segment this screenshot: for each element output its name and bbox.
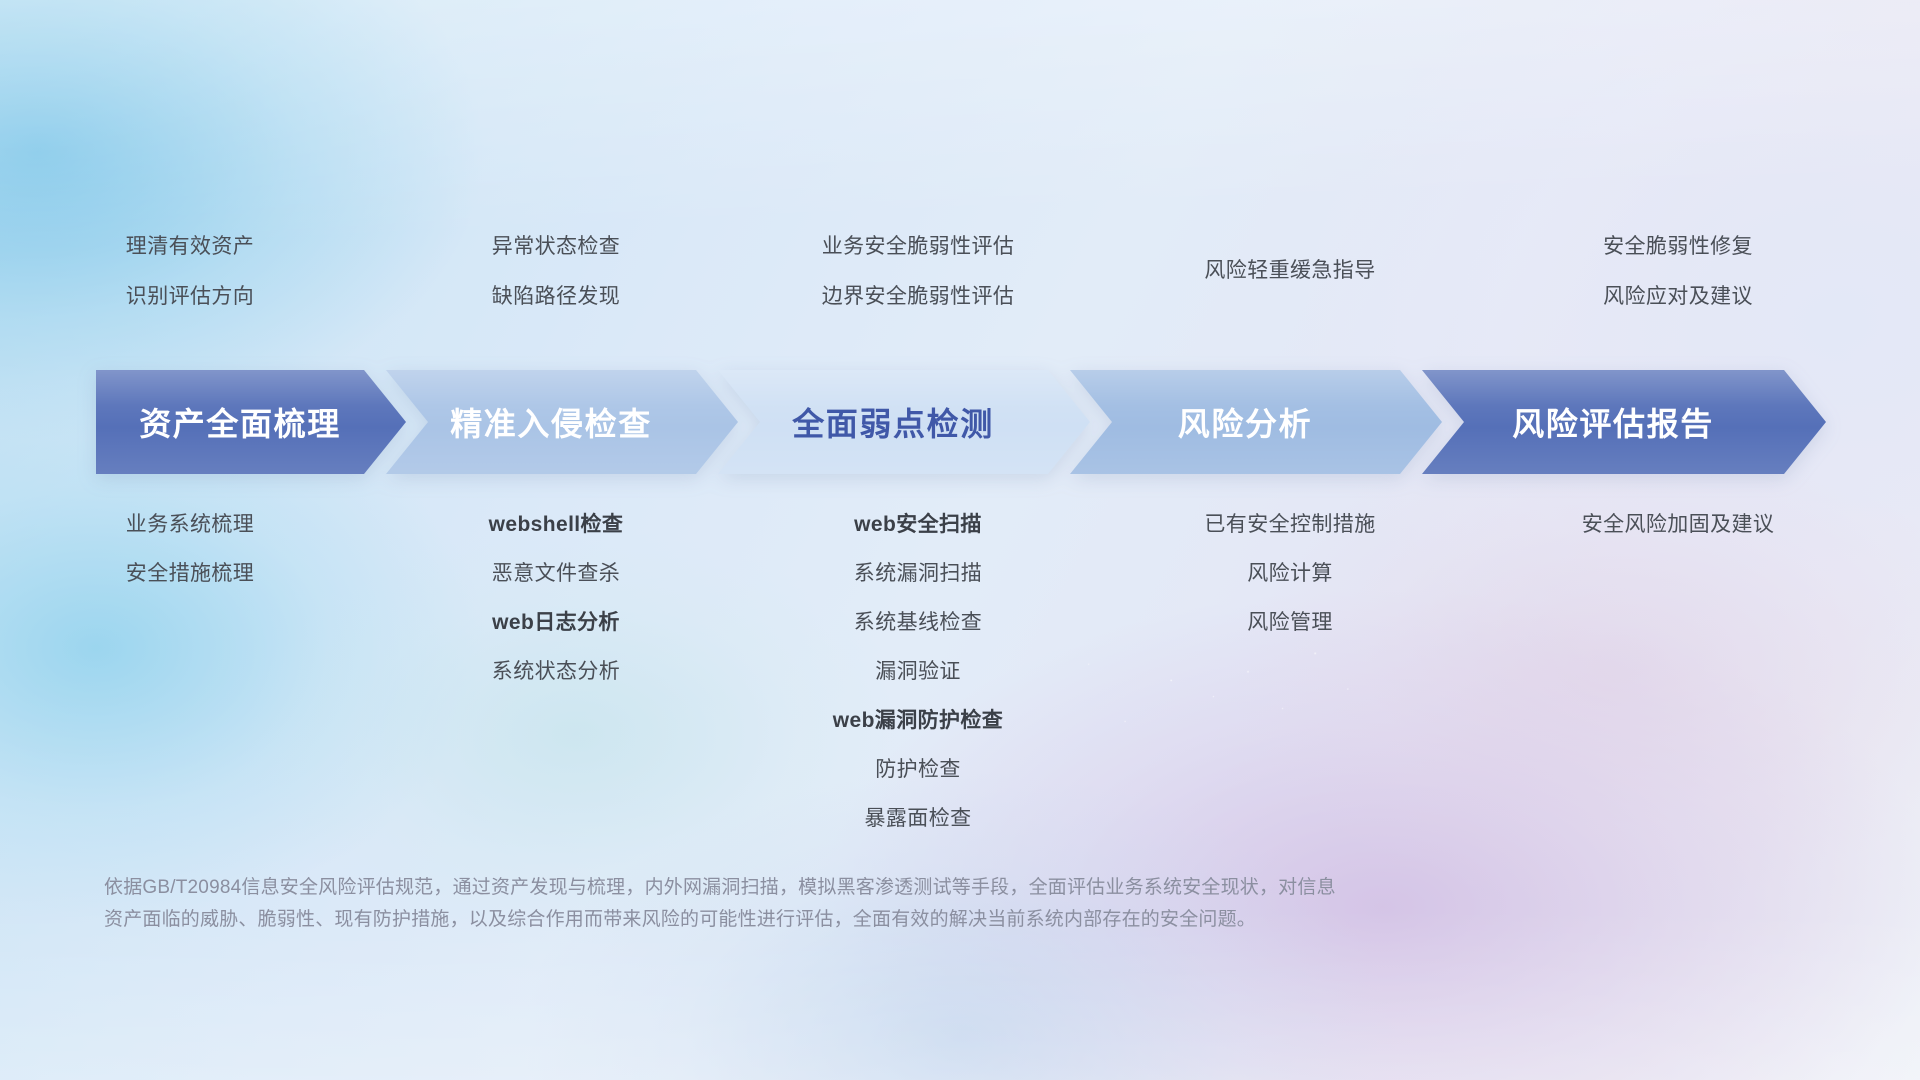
stage-3-outcomes: 业务安全脆弱性评估 边界安全脆弱性评估 [732, 222, 1104, 322]
list-item: 风险轻重缓急指导 [1204, 246, 1375, 296]
list-item: 安全措施梳理 [126, 549, 254, 598]
list-item: 识别评估方向 [126, 272, 254, 322]
stage-2-activities: webshell检查恶意文件查杀web日志分析系统状态分析 [380, 500, 732, 843]
chevron-stage-2[interactable]: 精准入侵检查 [386, 370, 738, 474]
list-item: 系统漏洞扫描 [854, 549, 982, 598]
stage-4-outcomes: 风险轻重缓急指导 [1104, 222, 1476, 322]
process-chevron-band: 资产全面梳理 精准入侵检查 全面弱点检测 风险分析 风险评估报告 [96, 370, 1848, 474]
list-item: 理清有效资产 [126, 222, 254, 272]
list-item: 系统状态分析 [492, 647, 620, 696]
list-item: 风险计算 [1247, 549, 1333, 598]
list-item: 系统基线检查 [854, 598, 982, 647]
chevron-stage-3[interactable]: 全面弱点检测 [718, 370, 1090, 474]
list-item: 已有安全控制措施 [1204, 500, 1375, 549]
stage-1-outcomes: 理清有效资产 识别评估方向 [0, 222, 380, 322]
list-item: 业务安全脆弱性评估 [822, 222, 1015, 272]
list-item: web日志分析 [492, 598, 620, 647]
stage-1-activities: 业务系统梳理安全措施梳理 [0, 500, 380, 843]
footer-description: 依据GB/T20984信息安全风险评估规范，通过资产发现与梳理，内外网漏洞扫描，… [104, 872, 1664, 936]
list-item: web漏洞防护检查 [833, 696, 1003, 745]
stage-3-activities: web安全扫描系统漏洞扫描系统基线检查漏洞验证web漏洞防护检查防护检查暴露面检… [732, 500, 1104, 843]
list-item: 异常状态检查 [492, 222, 620, 272]
list-item: 业务系统梳理 [126, 500, 254, 549]
list-item: 防护检查 [875, 745, 961, 794]
list-item: 边界安全脆弱性评估 [822, 272, 1015, 322]
list-item: webshell检查 [489, 500, 624, 549]
list-item: 安全脆弱性修复 [1603, 222, 1753, 272]
chevron-stage-4-label: 风险分析 [1178, 399, 1334, 445]
stage-5-outcomes: 安全脆弱性修复 风险应对及建议 [1476, 222, 1880, 322]
footer-line-1: 依据GB/T20984信息安全风险评估规范，通过资产发现与梳理，内外网漏洞扫描，… [104, 872, 1664, 904]
list-item: web安全扫描 [854, 500, 982, 549]
stage-4-activities: 已有安全控制措施风险计算风险管理 [1104, 500, 1476, 843]
list-item: 恶意文件查杀 [492, 549, 620, 598]
list-item: 漏洞验证 [875, 647, 961, 696]
chevron-stage-2-label: 精准入侵检查 [450, 399, 674, 445]
diagram-canvas: 理清有效资产 识别评估方向 异常状态检查 缺陷路径发现 业务安全脆弱性评估 边界… [0, 0, 1920, 1080]
chevron-stage-4[interactable]: 风险分析 [1070, 370, 1442, 474]
list-item: 缺陷路径发现 [492, 272, 620, 322]
footer-line-2: 资产面临的威胁、脆弱性、现有防护措施，以及综合作用而带来风险的可能性进行评估，全… [104, 904, 1664, 936]
chevron-stage-1-label: 资产全面梳理 [139, 399, 363, 445]
chevron-stage-3-label: 全面弱点检测 [792, 399, 1016, 445]
chevron-stage-5[interactable]: 风险评估报告 [1422, 370, 1826, 474]
chevron-stage-5-label: 风险评估报告 [1512, 399, 1736, 445]
list-item: 暴露面检查 [865, 794, 972, 843]
stage-2-outcomes: 异常状态检查 缺陷路径发现 [380, 222, 732, 322]
list-item: 安全风险加固及建议 [1582, 500, 1775, 549]
chevron-stage-1[interactable]: 资产全面梳理 [96, 370, 406, 474]
stage-5-activities: 安全风险加固及建议 [1476, 500, 1880, 843]
stage-outcomes-row: 理清有效资产 识别评估方向 异常状态检查 缺陷路径发现 业务安全脆弱性评估 边界… [0, 222, 1920, 332]
stage-activities-row: 业务系统梳理安全措施梳理 webshell检查恶意文件查杀web日志分析系统状态… [0, 500, 1920, 830]
list-item: 风险管理 [1247, 598, 1333, 647]
list-item: 风险应对及建议 [1603, 272, 1753, 322]
